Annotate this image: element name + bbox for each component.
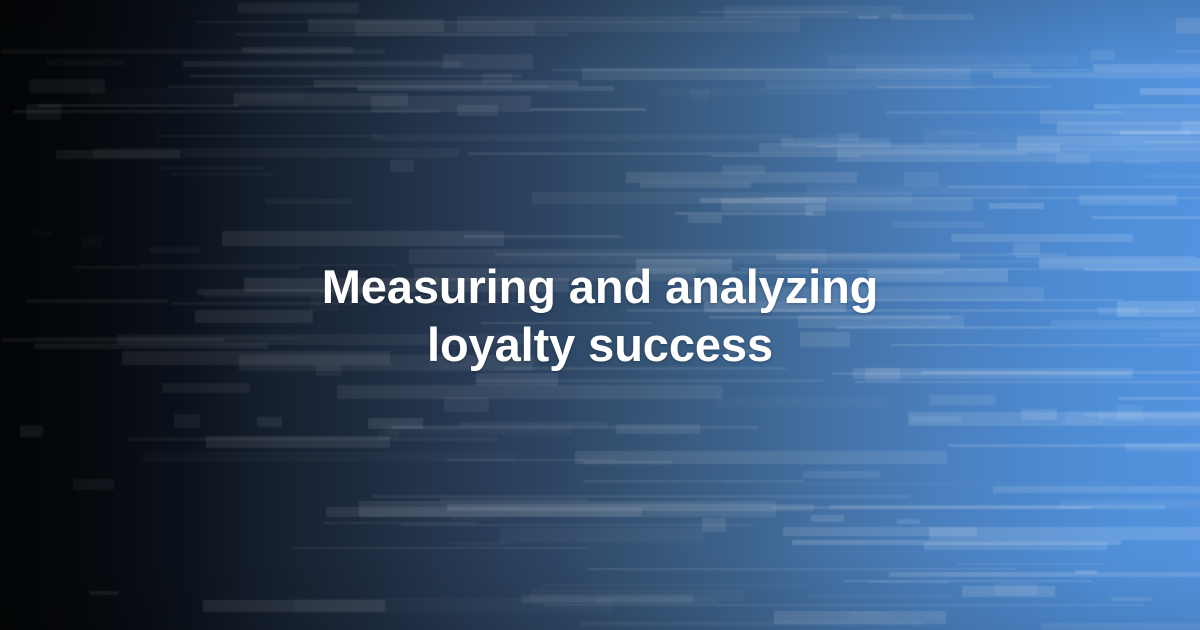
banner-title-line-2: loyalty success xyxy=(90,316,1110,374)
banner-title-line-1: Measuring and analyzing xyxy=(90,258,1110,316)
hero-banner: Measuring and analyzing loyalty success xyxy=(0,0,1200,630)
banner-title: Measuring and analyzing loyalty success xyxy=(0,258,1200,374)
